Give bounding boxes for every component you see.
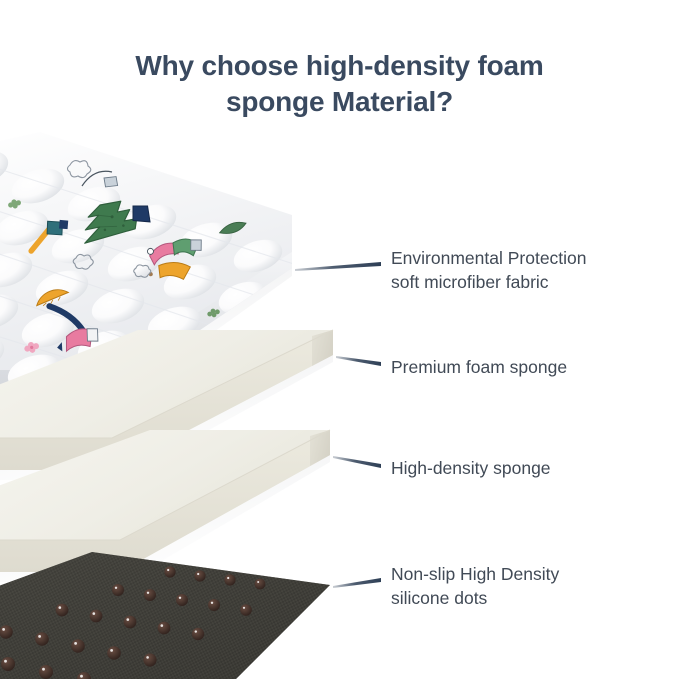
leader-line-3 (333, 456, 381, 468)
leader-line-2 (336, 356, 381, 366)
layered-mattress-illustration (0, 0, 679, 679)
callout-label-premium-foam: Premium foam sponge (391, 355, 567, 379)
callout-label-silicone-dots: Non-slip High Density silicone dots (391, 562, 559, 610)
callout-label-fabric: Environmental Protection soft microfiber… (391, 246, 587, 294)
leader-line-4 (333, 578, 381, 588)
leader-line-1 (295, 262, 381, 271)
infographic-canvas: Why choose high-density foam sponge Mate… (0, 0, 679, 679)
callout-label-high-density-foam: High-density sponge (391, 456, 551, 480)
silicone-dot-layer (0, 552, 330, 679)
leader-lines (295, 262, 381, 588)
